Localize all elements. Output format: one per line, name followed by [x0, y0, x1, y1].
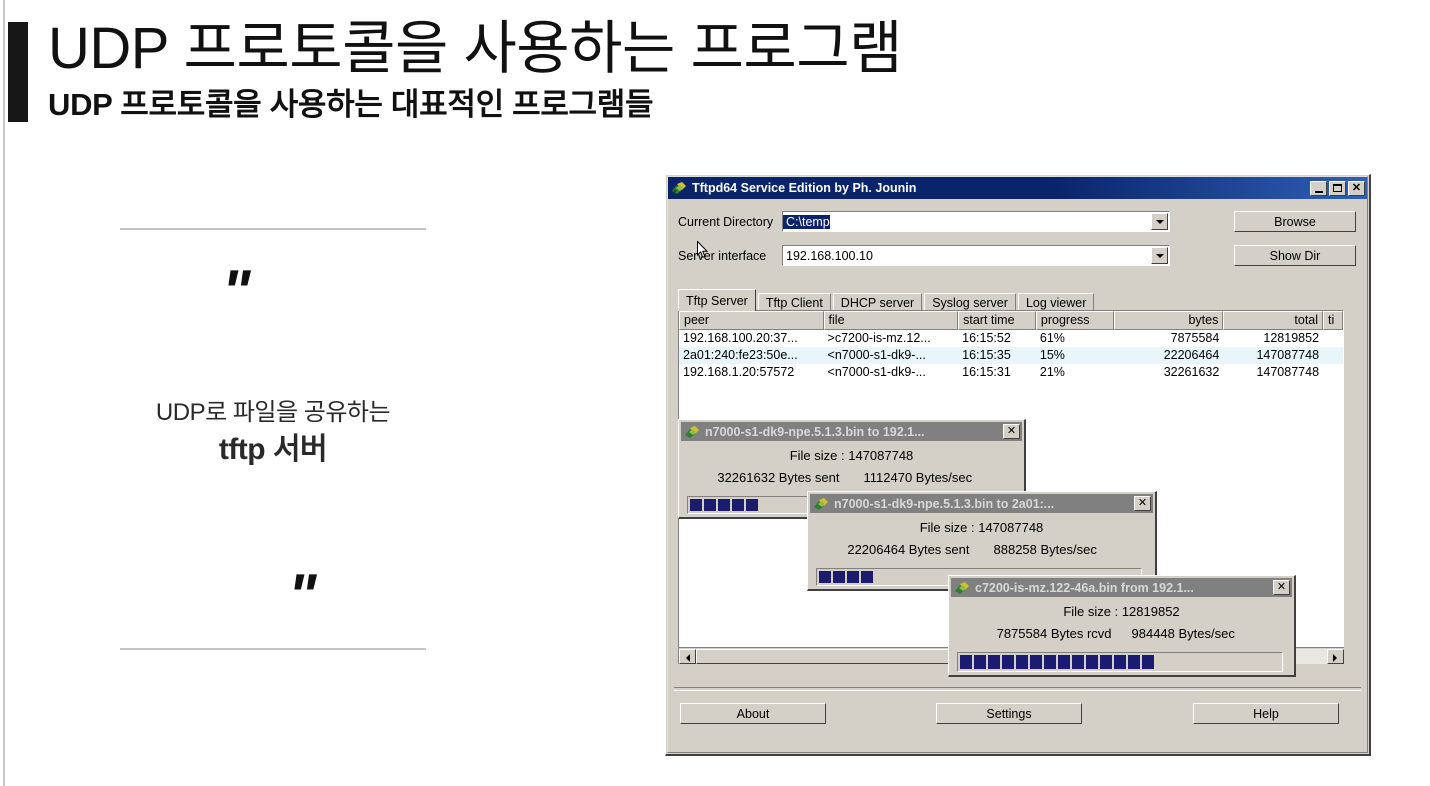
transfer-progress-bar [957, 652, 1283, 672]
mouse-cursor [697, 241, 709, 260]
transfer-file-size: File size : 147087748 [808, 520, 1155, 535]
transfer-dialog-titlebar[interactable]: c7200-is-mz.122-46a.bin from 192.1... ✕ [951, 578, 1292, 597]
table-cell: 16:15:31 [958, 364, 1036, 381]
current-directory-combo[interactable]: C:\temp [782, 211, 1170, 232]
progress-block [732, 499, 744, 511]
progress-block [833, 571, 845, 583]
progress-block [746, 499, 758, 511]
minimize-button[interactable] [1310, 181, 1327, 196]
progress-block [1114, 655, 1126, 669]
progress-block [847, 571, 859, 583]
progress-block [819, 571, 831, 583]
close-icon[interactable]: ✕ [1003, 424, 1020, 439]
progress-block [1030, 655, 1042, 669]
current-directory-label: Current Directory [678, 215, 782, 229]
server-interface-value[interactable]: 192.168.100.10 [783, 249, 873, 263]
progress-block [704, 499, 716, 511]
transfer-dialog-titlebar[interactable]: n7000-s1-dk9-npe.5.1.3.bin to 192.1... ✕ [681, 422, 1022, 441]
browse-button[interactable]: Browse [1234, 211, 1356, 232]
window-controls: ✕ [1310, 181, 1365, 196]
tftpd64-app-icon [684, 424, 700, 440]
transfer-dialog-title: n7000-s1-dk9-npe.5.1.3.bin to 192.1... [705, 425, 1003, 439]
column-header[interactable]: file [824, 311, 959, 330]
table-cell: 15% [1036, 347, 1114, 364]
quote-block-bottom-rule [120, 648, 426, 650]
progress-block [1086, 655, 1098, 669]
quote-close-mark: " [288, 566, 313, 626]
progress-block [690, 499, 702, 511]
tab-bar: Tftp ServerTftp ClientDHCP serverSyslog … [678, 289, 1096, 311]
about-button[interactable]: About [680, 703, 826, 724]
transfer-bytes: 22206464 Bytes sent [808, 542, 982, 557]
table-cell [1323, 330, 1343, 347]
table-row[interactable]: 192.168.100.20:37...>c7200-is-mz.12...16… [679, 330, 1343, 347]
page-title: UDP 프로토콜을 사용하는 프로그램 [48, 18, 902, 79]
column-header[interactable]: start time [958, 311, 1036, 330]
table-cell: 32261632 [1114, 364, 1224, 381]
transfer-dialog-titlebar[interactable]: n7000-s1-dk9-npe.5.1.3.bin to 2a01:... ✕ [810, 494, 1153, 513]
server-interface-combo[interactable]: 192.168.100.10 [782, 245, 1170, 266]
window-titlebar[interactable]: Tftpd64 Service Edition by Ph. Jounin ✕ [668, 177, 1367, 199]
title-accent-bar [8, 22, 28, 122]
quote-block-top-rule [120, 228, 426, 230]
table-cell: 2a01:240:fe23:50e... [679, 347, 824, 364]
table-row[interactable]: 192.168.1.20:57572<n7000-s1-dk9-...16:15… [679, 364, 1343, 381]
tab-tftp-server[interactable]: Tftp Server [678, 289, 756, 311]
table-cell: <n7000-s1-dk9-... [824, 347, 959, 364]
progress-block [1058, 655, 1070, 669]
transfer-rate: 888258 Bytes/sec [982, 542, 1156, 557]
close-button[interactable]: ✕ [1348, 181, 1365, 196]
tftpd64-app-icon [813, 496, 829, 512]
page-subtitle: UDP 프로토콜을 사용하는 대표적인 프로그램들 [48, 88, 653, 123]
table-body: 192.168.100.20:37...>c7200-is-mz.12...16… [679, 330, 1343, 381]
tftpd64-app-icon [954, 580, 970, 596]
progress-block [1142, 655, 1154, 669]
table-header-row: peerfilestart timeprogressbytestotalti [679, 311, 1343, 330]
column-header[interactable]: peer [679, 311, 824, 330]
table-row[interactable]: 2a01:240:fe23:50e...<n7000-s1-dk9-...16:… [679, 347, 1343, 364]
table-cell: 21% [1036, 364, 1114, 381]
progress-block [1044, 655, 1056, 669]
transfer-rate: 984448 Bytes/sec [1122, 626, 1295, 641]
window-title: Tftpd64 Service Edition by Ph. Jounin [692, 181, 1310, 195]
table-cell: 147087748 [1223, 364, 1323, 381]
progress-block [974, 655, 986, 669]
close-icon[interactable]: ✕ [1134, 496, 1151, 511]
close-icon[interactable]: ✕ [1273, 580, 1290, 595]
chevron-down-icon[interactable] [1151, 213, 1168, 230]
table-cell: 192.168.100.20:37... [679, 330, 824, 347]
scroll-left-arrow-icon[interactable] [679, 649, 696, 664]
table-cell: 16:15:52 [958, 330, 1036, 347]
progress-block [1016, 655, 1028, 669]
transfer-bytes: 32261632 Bytes sent [679, 470, 852, 485]
show-dir-button[interactable]: Show Dir [1234, 245, 1356, 266]
table-cell [1323, 347, 1343, 364]
table-cell: 16:15:35 [958, 347, 1036, 364]
quote-line-2: tftp 서버 [120, 424, 426, 468]
progress-block [861, 571, 873, 583]
page-edge-line [3, 0, 5, 786]
table-cell: 147087748 [1223, 347, 1323, 364]
table-cell [1323, 364, 1343, 381]
current-directory-row: Current Directory C:\temp [678, 211, 1170, 232]
server-interface-label: Server interface [678, 249, 782, 263]
current-directory-value[interactable]: C:\temp [783, 215, 830, 229]
progress-block [960, 655, 972, 669]
quote-open-mark: " [222, 262, 247, 322]
settings-button[interactable]: Settings [936, 703, 1082, 724]
progress-block [718, 499, 730, 511]
help-button[interactable]: Help [1193, 703, 1339, 724]
transfer-dialog: c7200-is-mz.122-46a.bin from 192.1... ✕ … [948, 575, 1296, 677]
progress-block [1072, 655, 1084, 669]
table-cell: <n7000-s1-dk9-... [824, 364, 959, 381]
transfer-rate: 1112470 Bytes/sec [852, 470, 1025, 485]
column-header[interactable]: total [1223, 311, 1323, 330]
table-cell: >c7200-is-mz.12... [824, 330, 959, 347]
transfer-file-size: File size : 12819852 [949, 604, 1294, 619]
tftpd64-app-icon [671, 180, 687, 196]
quote-line-1: UDP로 파일을 공유하는 [120, 392, 426, 427]
chevron-down-icon[interactable] [1151, 247, 1168, 264]
tftpd64-window: Tftpd64 Service Edition by Ph. Jounin ✕ … [665, 174, 1371, 756]
column-header[interactable]: bytes [1114, 311, 1224, 330]
progress-block [1128, 655, 1140, 669]
table-cell: 61% [1036, 330, 1114, 347]
table-cell: 7875584 [1114, 330, 1224, 347]
transfer-bytes: 7875584 Bytes rcvd [949, 626, 1122, 641]
progress-block [1002, 655, 1014, 669]
maximize-button[interactable] [1329, 181, 1346, 196]
footer-divider [674, 687, 1361, 691]
server-interface-row: Server interface 192.168.100.10 [678, 245, 1170, 266]
transfer-dialog-title: c7200-is-mz.122-46a.bin from 192.1... [975, 581, 1273, 595]
table-cell: 192.168.1.20:57572 [679, 364, 824, 381]
scroll-right-arrow-icon[interactable] [1327, 649, 1344, 664]
progress-block [1100, 655, 1112, 669]
table-cell: 12819852 [1223, 330, 1323, 347]
transfer-dialog-title: n7000-s1-dk9-npe.5.1.3.bin to 2a01:... [834, 497, 1134, 511]
column-header[interactable]: progress [1036, 311, 1114, 330]
column-header[interactable]: ti [1323, 311, 1343, 330]
transfer-file-size: File size : 147087748 [679, 448, 1024, 463]
table-cell: 22206464 [1114, 347, 1224, 364]
progress-block [988, 655, 1000, 669]
